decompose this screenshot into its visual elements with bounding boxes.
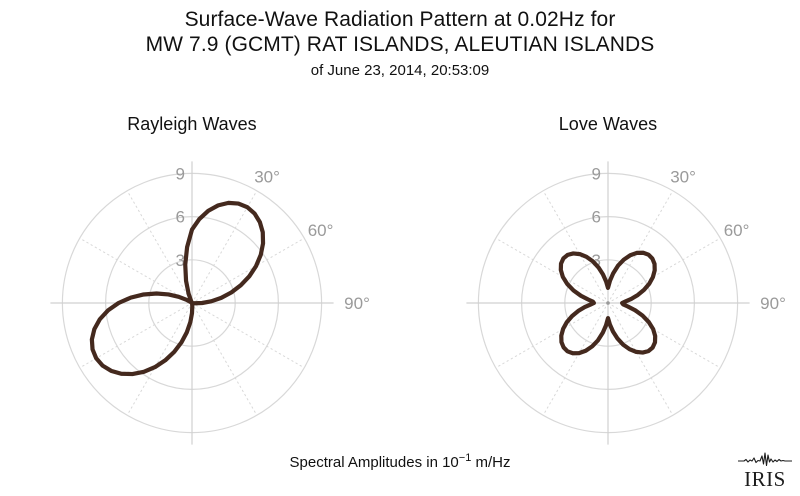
rayleigh-radiation-curve bbox=[92, 203, 263, 374]
love-angular-tick-label-30: 30° bbox=[670, 167, 696, 186]
rayleigh-panel-title: Rayleigh Waves bbox=[52, 114, 332, 135]
love-panel-title: Love Waves bbox=[468, 114, 748, 135]
rayleigh-spoke-300 bbox=[80, 238, 192, 303]
rayleigh-angular-tick-label-30: 30° bbox=[254, 167, 280, 186]
figure-title-line-2: MW 7.9 (GCMT) RAT ISLANDS, ALEUTIAN ISLA… bbox=[0, 33, 800, 58]
love-spoke-60 bbox=[608, 238, 720, 303]
caption-suffix: m/Hz bbox=[471, 454, 510, 471]
rayleigh-spoke-120 bbox=[192, 303, 304, 368]
caption-prefix: Spectral Amplitudes in 10 bbox=[290, 454, 459, 471]
love-radial-tick-label-9: 9 bbox=[592, 164, 601, 183]
iris-wordmark: IRIS bbox=[736, 469, 794, 490]
rayleigh-angular-tick-label-90: 90° bbox=[344, 294, 370, 313]
love-angular-tick-label-90: 90° bbox=[760, 294, 786, 313]
love-spoke-300 bbox=[496, 238, 608, 303]
figure-canvas: Surface-Wave Radiation Pattern at 0.02Hz… bbox=[0, 0, 800, 496]
rayleigh-spoke-150 bbox=[192, 303, 257, 415]
love-spoke-30 bbox=[608, 191, 673, 303]
rayleigh-spoke-60 bbox=[192, 238, 304, 303]
rayleigh-radial-tick-label-9: 9 bbox=[176, 164, 185, 183]
rayleigh-radial-tick-label-6: 6 bbox=[176, 208, 185, 227]
love-spoke-210 bbox=[543, 303, 608, 415]
seismogram-icon bbox=[736, 452, 794, 468]
rayleigh-spoke-210 bbox=[127, 303, 192, 415]
iris-logo: IRIS bbox=[736, 452, 794, 490]
love-angular-tick-label-60: 60° bbox=[724, 221, 750, 240]
love-spoke-120 bbox=[608, 303, 720, 368]
rayleigh-angular-tick-label-60: 60° bbox=[308, 221, 334, 240]
love-spoke-150 bbox=[608, 303, 673, 415]
love-spoke-240 bbox=[496, 303, 608, 368]
caption-exponent: −1 bbox=[459, 452, 472, 464]
figure-caption: Spectral Amplitudes in 10−1 m/Hz bbox=[0, 452, 800, 471]
love-radial-tick-label-6: 6 bbox=[592, 208, 601, 227]
figure-title-block: Surface-Wave Radiation Pattern at 0.02Hz… bbox=[0, 8, 800, 79]
figure-subtitle: of June 23, 2014, 20:53:09 bbox=[0, 62, 800, 80]
love-origin-dot bbox=[606, 301, 610, 305]
figure-title-line-1: Surface-Wave Radiation Pattern at 0.02Hz… bbox=[0, 8, 800, 33]
